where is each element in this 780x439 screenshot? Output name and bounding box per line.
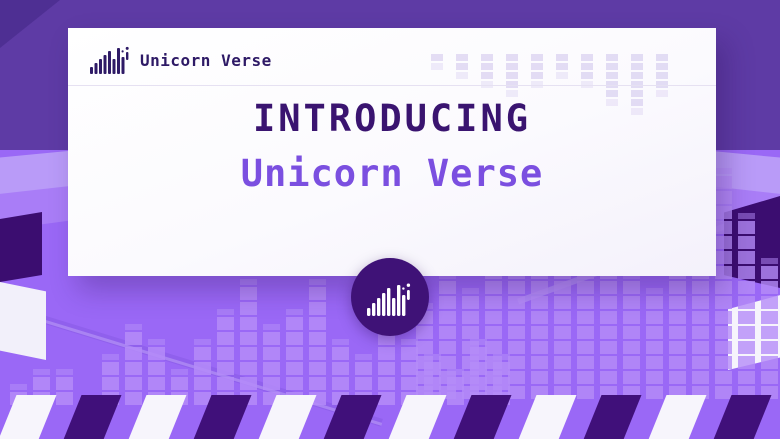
equalizer-segment xyxy=(656,90,668,97)
equalizer-segment xyxy=(761,296,778,309)
equalizer-segment xyxy=(10,384,27,390)
page-title: INTRODUCING xyxy=(68,98,716,141)
equalizer-bar xyxy=(623,273,640,399)
equalizer-segment xyxy=(656,63,668,70)
equalizer-segment xyxy=(424,362,441,375)
equalizer-segment xyxy=(554,341,571,354)
equalizer-segment xyxy=(600,341,617,354)
equalizer-segment xyxy=(531,341,548,354)
equalizer-segment xyxy=(171,369,188,375)
equalizer-segment xyxy=(761,371,778,384)
equalizer-segment xyxy=(401,377,418,390)
equalizer-segment xyxy=(240,279,257,285)
equalizer-segment xyxy=(531,356,548,369)
equalizer-segment xyxy=(761,258,778,264)
equalizer-segment xyxy=(56,377,73,390)
equalizer-segment xyxy=(761,356,778,369)
equalizer-segment xyxy=(33,377,50,390)
equalizer-bar xyxy=(715,168,732,399)
stripe-segment xyxy=(454,395,513,439)
stripe-segment xyxy=(64,395,123,439)
equalizer-segment xyxy=(669,281,686,294)
equalizer-segment xyxy=(355,377,372,390)
equalizer-segment xyxy=(715,236,732,249)
equalizer-segment xyxy=(577,311,594,324)
equalizer-segment xyxy=(240,302,257,315)
equalizer-segment xyxy=(738,213,755,219)
announcement-card: Unicorn Verse INTRODUCING Unicorn Verse xyxy=(68,28,716,276)
equalizer-segment xyxy=(623,356,640,369)
stripe-band xyxy=(0,395,780,439)
equalizer-segment xyxy=(738,311,755,324)
equalizer-segment xyxy=(217,377,234,390)
equalizer-segment xyxy=(600,356,617,369)
equalizer-segment xyxy=(761,281,778,294)
headline-block: INTRODUCING Unicorn Verse xyxy=(68,98,716,195)
equalizer-segment xyxy=(656,72,668,79)
equalizer-segment xyxy=(309,332,326,345)
equalizer-bar xyxy=(531,54,543,88)
stripe-segment xyxy=(584,395,643,439)
equalizer-segment xyxy=(217,332,234,345)
equalizer-segment xyxy=(692,371,709,384)
equalizer-segment xyxy=(715,191,732,204)
equalizer-segment xyxy=(531,72,543,79)
equalizer-segment xyxy=(56,369,73,375)
equalizer-segment xyxy=(508,371,525,384)
logo-badge[interactable] xyxy=(351,258,429,336)
equalizer-segment xyxy=(531,326,548,339)
equalizer-segment xyxy=(470,339,487,345)
equalizer-segment xyxy=(286,347,303,360)
equalizer-segment xyxy=(309,302,326,315)
equalizer-segment xyxy=(401,347,418,360)
equalizer-segment xyxy=(263,332,280,345)
equalizer-segment xyxy=(263,377,280,390)
equalizer-segment xyxy=(581,72,593,79)
equalizer-segment xyxy=(508,311,525,324)
equalizer-segment xyxy=(623,311,640,324)
equalizer-segment xyxy=(738,341,755,354)
equalizer-segment xyxy=(508,281,525,294)
equalizer-segment xyxy=(240,362,257,375)
equalizer-segment xyxy=(669,356,686,369)
equalizer-segment xyxy=(102,362,119,375)
equalizer-segment xyxy=(125,324,142,330)
equalizer-segment xyxy=(623,281,640,294)
equalizer-segment xyxy=(606,63,618,70)
equalizer-segment xyxy=(646,356,663,369)
equalizer-segment xyxy=(309,287,326,300)
equalizer-segment xyxy=(470,347,487,360)
equalizer-segment xyxy=(646,341,663,354)
equalizer-segment xyxy=(577,281,594,294)
equalizer-segment xyxy=(531,311,548,324)
equalizer-bar xyxy=(481,54,493,88)
equalizer-segment xyxy=(309,279,326,285)
equalizer-bar xyxy=(656,54,668,97)
equalizer-segment xyxy=(508,341,525,354)
equalizer-bar xyxy=(738,213,755,399)
equalizer-segment xyxy=(692,356,709,369)
equalizer-segment xyxy=(508,356,525,369)
equalizer-segment xyxy=(715,221,732,234)
equalizer-segment xyxy=(470,377,487,390)
equalizer-segment xyxy=(217,362,234,375)
equalizer-segment xyxy=(481,72,493,79)
equalizer-segment xyxy=(692,311,709,324)
equalizer-segment xyxy=(506,63,518,70)
equalizer-segment xyxy=(738,371,755,384)
equalizer-segment xyxy=(240,377,257,390)
equalizer-segment xyxy=(581,54,593,61)
equalizer-bar xyxy=(456,54,468,79)
stripe-segment xyxy=(0,395,58,439)
equalizer-segment xyxy=(309,377,326,390)
equalizer-segment xyxy=(493,377,510,390)
equalizer-segment xyxy=(669,326,686,339)
equalizer-segment xyxy=(456,63,468,70)
equalizer-segment xyxy=(493,354,510,360)
equalizer-segment xyxy=(286,317,303,330)
equalizer-segment xyxy=(761,311,778,324)
equalizer-segment xyxy=(631,54,643,61)
equalizer-segment xyxy=(102,377,119,390)
equalizer-segment xyxy=(263,324,280,330)
equalizer-segment xyxy=(738,266,755,279)
equalizer-segment xyxy=(692,326,709,339)
equalizer-segment xyxy=(506,72,518,79)
equalizer-segment xyxy=(761,341,778,354)
equalizer-segment xyxy=(431,54,443,61)
equalizer-segment xyxy=(508,326,525,339)
equalizer-segment xyxy=(102,354,119,360)
brand-name: Unicorn Verse xyxy=(140,51,272,70)
equalizer-segment xyxy=(715,281,732,294)
equalizer-segment xyxy=(656,54,668,61)
equalizer-segment xyxy=(738,281,755,294)
equalizer-segment xyxy=(669,371,686,384)
equalizer-segment xyxy=(378,377,395,390)
equalizer-segment xyxy=(506,54,518,61)
equalizer-segment xyxy=(263,362,280,375)
equalizer-segment xyxy=(600,326,617,339)
equalizer-segment xyxy=(332,347,349,360)
equalizer-bar xyxy=(378,324,395,405)
equalizer-segment xyxy=(355,354,372,360)
equalizer-segment xyxy=(623,341,640,354)
equalizer-segment xyxy=(148,377,165,390)
equalizer-segment xyxy=(554,356,571,369)
equalizer-segment xyxy=(125,362,142,375)
equalizer-segment xyxy=(125,347,142,360)
equalizer-segment xyxy=(738,236,755,249)
equalizer-bar xyxy=(761,258,778,399)
brand-lockup[interactable]: Unicorn Verse xyxy=(90,46,272,74)
equalizer-segment xyxy=(646,311,663,324)
equalizer-segment xyxy=(148,339,165,345)
equalizer-segment xyxy=(738,326,755,339)
equalizer-segment xyxy=(424,377,441,390)
equalizer-segment xyxy=(194,347,211,360)
equalizer-segment xyxy=(332,339,349,345)
equalizer-segment xyxy=(217,317,234,330)
equalizer-segment xyxy=(286,377,303,390)
equalizer-bar xyxy=(309,279,326,405)
stripe-segment xyxy=(519,395,578,439)
equalizer-segment xyxy=(148,347,165,360)
equalizer-segment xyxy=(447,377,464,390)
equalizer-segment xyxy=(148,362,165,375)
equalizer-segment xyxy=(240,347,257,360)
equalizer-bar xyxy=(125,324,142,405)
equalizer-bar xyxy=(556,54,568,79)
equalizer-segment xyxy=(646,326,663,339)
equalizer-segment xyxy=(431,63,443,70)
equalizer-segment xyxy=(715,251,732,264)
equalizer-segment xyxy=(556,63,568,70)
equalizer-bar xyxy=(217,309,234,405)
equalizer-segment xyxy=(738,356,755,369)
equalizer-segment xyxy=(194,339,211,345)
equalizer-segment xyxy=(606,54,618,61)
equalizer-segment xyxy=(332,362,349,375)
equalizer-segment xyxy=(447,369,464,375)
equalizer-segment xyxy=(286,332,303,345)
equalizer-segment xyxy=(669,296,686,309)
equalizer-segment xyxy=(378,362,395,375)
equalizer-segment xyxy=(401,362,418,375)
equalizer-segment xyxy=(738,251,755,264)
equalizer-segment xyxy=(531,281,548,294)
equalizer-segment xyxy=(554,296,571,309)
banner-canvas: Unicorn Verse INTRODUCING Unicorn Verse xyxy=(0,0,780,439)
equalizer-segment xyxy=(646,288,663,294)
equalizer-segment xyxy=(715,168,732,174)
equalizer-segment xyxy=(554,371,571,384)
equalizer-segment xyxy=(240,332,257,345)
equalizer-segment xyxy=(631,72,643,79)
equalizer-segment xyxy=(623,371,640,384)
equalizer-segment xyxy=(240,317,257,330)
equalizer-segment xyxy=(217,309,234,315)
stripe-segment xyxy=(649,395,708,439)
equalizer-segment xyxy=(581,63,593,70)
equalizer-bar xyxy=(263,324,280,405)
equalizer-segment xyxy=(577,341,594,354)
equalizer-segment xyxy=(646,371,663,384)
equalizer-segment xyxy=(378,347,395,360)
equalizer-segment xyxy=(606,90,618,97)
equalizer-segment xyxy=(286,362,303,375)
equalizer-segment xyxy=(715,311,732,324)
equalizer-segment xyxy=(424,354,441,360)
equalizer-segment xyxy=(456,54,468,61)
equalizer-bars-icon xyxy=(90,46,130,74)
equalizer-segment xyxy=(556,54,568,61)
equalizer-segment xyxy=(669,341,686,354)
equalizer-segment xyxy=(761,326,778,339)
equalizer-segment xyxy=(263,347,280,360)
equalizer-segment xyxy=(481,63,493,70)
equalizer-segment xyxy=(286,309,303,315)
equalizer-bar xyxy=(240,279,257,405)
equalizer-segment xyxy=(332,377,349,390)
equalizer-segment xyxy=(715,206,732,219)
equalizer-bar xyxy=(531,258,548,399)
equalizer-segment xyxy=(692,281,709,294)
stripe-segment xyxy=(194,395,253,439)
equalizer-segment xyxy=(217,347,234,360)
equalizer-segment xyxy=(481,54,493,61)
stripe-segment xyxy=(324,395,383,439)
equalizer-segment xyxy=(761,266,778,279)
equalizer-bar xyxy=(646,288,663,399)
equalizer-bar xyxy=(506,54,518,97)
equalizer-segment xyxy=(646,296,663,309)
equalizer-segment xyxy=(623,296,640,309)
equalizer-segment xyxy=(493,362,510,375)
equalizer-bottom xyxy=(0,279,510,405)
equalizer-segment xyxy=(33,369,50,375)
equalizer-segment xyxy=(309,317,326,330)
equalizer-segment xyxy=(600,371,617,384)
equalizer-segment xyxy=(309,347,326,360)
equalizer-segment xyxy=(715,326,732,339)
equalizer-segment xyxy=(715,176,732,189)
equalizer-segment xyxy=(531,63,543,70)
equalizer-segment xyxy=(715,371,732,384)
equalizer-segment xyxy=(715,266,732,279)
equalizer-segment xyxy=(577,356,594,369)
equalizer-bar xyxy=(431,54,443,70)
equalizer-segment xyxy=(355,362,372,375)
stripe-segment xyxy=(259,395,318,439)
equalizer-segment xyxy=(738,221,755,234)
equalizer-segment xyxy=(531,371,548,384)
equalizer-segment xyxy=(194,362,211,375)
equalizer-segment xyxy=(554,311,571,324)
equalizer-segment xyxy=(577,326,594,339)
equalizer-segment xyxy=(531,296,548,309)
equalizer-bar xyxy=(286,309,303,405)
equalizer-segment xyxy=(508,296,525,309)
equalizer-segment xyxy=(506,90,518,97)
equalizer-segment xyxy=(531,54,543,61)
equalizer-segment xyxy=(470,362,487,375)
equalizer-segment xyxy=(577,296,594,309)
equalizer-segment xyxy=(631,63,643,70)
equalizer-segment xyxy=(556,72,568,79)
equalizer-segment xyxy=(606,72,618,79)
equalizer-segment xyxy=(600,281,617,294)
equalizer-segment xyxy=(692,341,709,354)
equalizer-segment xyxy=(125,377,142,390)
equalizer-segment xyxy=(715,356,732,369)
page-subtitle: Unicorn Verse xyxy=(68,153,716,196)
equalizer-segment xyxy=(554,281,571,294)
equalizer-segment xyxy=(194,377,211,390)
equalizer-segment xyxy=(309,362,326,375)
equalizer-segment xyxy=(600,296,617,309)
equalizer-segment xyxy=(401,339,418,345)
brand-divider xyxy=(68,85,716,86)
corner-wedge-left-dark xyxy=(0,212,42,282)
stripe-segment xyxy=(129,395,188,439)
stripe-segment xyxy=(714,395,773,439)
equalizer-segment xyxy=(669,311,686,324)
equalizer-segment xyxy=(692,296,709,309)
equalizer-segment xyxy=(456,72,468,79)
stripe-segment xyxy=(389,395,448,439)
equalizer-segment xyxy=(240,287,257,300)
equalizer-segment xyxy=(554,326,571,339)
equalizer-bar xyxy=(581,54,593,88)
equalizer-segment xyxy=(125,332,142,345)
equalizer-segment xyxy=(715,296,732,309)
equalizer-segment xyxy=(600,311,617,324)
equalizer-segment xyxy=(171,377,188,390)
equalizer-bars-icon xyxy=(367,282,413,316)
equalizer-segment xyxy=(577,371,594,384)
equalizer-segment xyxy=(631,90,643,97)
equalizer-segment xyxy=(715,341,732,354)
equalizer-segment xyxy=(623,326,640,339)
equalizer-segment xyxy=(738,296,755,309)
